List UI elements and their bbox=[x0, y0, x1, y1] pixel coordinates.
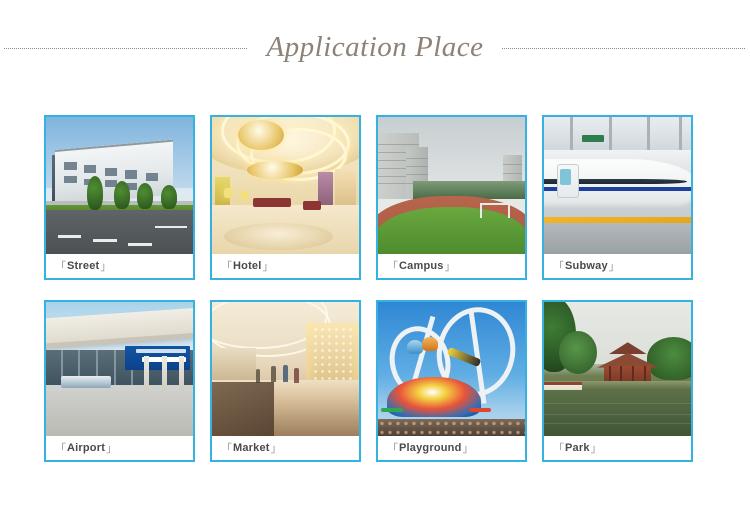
caption-playground: 「 Playground 」 bbox=[378, 436, 525, 460]
photo-street bbox=[46, 117, 193, 254]
application-place-page: Application Place bbox=[0, 0, 750, 521]
bracket-open-icon: 「 bbox=[552, 258, 565, 274]
photo-subway bbox=[544, 117, 691, 254]
entrance-pillar bbox=[144, 356, 149, 391]
window bbox=[84, 165, 96, 173]
goal-post bbox=[480, 203, 510, 218]
bracket-close-icon: 」 bbox=[590, 440, 603, 456]
canopy-beam bbox=[647, 117, 650, 153]
card-hotel[interactable]: 「 Hotel 」 bbox=[210, 115, 361, 280]
page-title: Application Place bbox=[266, 31, 483, 63]
road-marking bbox=[155, 226, 187, 228]
card-street[interactable]: 「 Street 」 bbox=[44, 115, 195, 280]
bracket-open-icon: 「 bbox=[386, 440, 399, 456]
caption-label: Hotel bbox=[233, 260, 262, 272]
station-canopy bbox=[544, 117, 691, 153]
bracket-open-icon: 「 bbox=[54, 258, 67, 274]
platform bbox=[544, 218, 691, 254]
card-market[interactable]: 「 Market 」 bbox=[210, 300, 361, 462]
bracket-close-icon: 」 bbox=[444, 258, 457, 274]
grid-row-1: 「 Street 」 bbox=[44, 115, 708, 280]
ride-arm bbox=[381, 408, 403, 412]
bracket-open-icon: 「 bbox=[220, 440, 233, 456]
caption-airport: 「 Airport 」 bbox=[46, 436, 193, 460]
canopy-beam bbox=[679, 117, 682, 153]
train-door-glass bbox=[560, 169, 571, 185]
window bbox=[64, 162, 77, 170]
divider-left bbox=[4, 48, 248, 49]
window bbox=[64, 176, 77, 183]
caption-label: Market bbox=[233, 442, 270, 454]
photo-campus bbox=[378, 117, 525, 254]
sofa bbox=[253, 198, 291, 207]
bracket-open-icon: 「 bbox=[220, 258, 233, 274]
tree bbox=[137, 183, 153, 209]
bracket-close-icon: 」 bbox=[462, 440, 475, 456]
road-marking bbox=[128, 243, 152, 246]
card-park[interactable]: 「 Park 」 bbox=[542, 300, 693, 462]
entrance-pillar bbox=[162, 356, 167, 391]
floor-dark-inlay bbox=[212, 382, 274, 436]
ferris-car bbox=[422, 337, 438, 351]
canopy-beam bbox=[570, 117, 573, 153]
caption-label: Park bbox=[565, 442, 590, 454]
bracket-close-icon: 」 bbox=[270, 440, 283, 456]
shopper bbox=[294, 368, 299, 383]
entrance-pillar bbox=[179, 356, 184, 391]
photo-airport bbox=[46, 302, 193, 436]
caption-park: 「 Park 」 bbox=[544, 436, 691, 460]
caption-label: Subway bbox=[565, 260, 608, 272]
carpet bbox=[224, 223, 333, 250]
application-place-grid: 「 Street 」 bbox=[44, 115, 708, 462]
bracket-close-icon: 」 bbox=[105, 440, 118, 456]
section-header: Application Place bbox=[0, 30, 750, 64]
bracket-open-icon: 「 bbox=[552, 440, 565, 456]
departures-sign-arabic-text bbox=[136, 349, 186, 353]
tree-middle bbox=[559, 331, 597, 374]
photo-playground bbox=[378, 302, 525, 436]
tree-right bbox=[647, 337, 691, 380]
crowd-texture bbox=[378, 419, 525, 436]
caption-market: 「 Market 」 bbox=[212, 436, 359, 460]
window bbox=[105, 168, 117, 176]
chandelier bbox=[247, 161, 303, 179]
grid-row-2: 「 Airport 」 bbox=[44, 300, 708, 462]
platform-safety-line bbox=[544, 217, 691, 223]
shopper bbox=[283, 365, 288, 382]
bracket-open-icon: 「 bbox=[54, 440, 67, 456]
bracket-close-icon: 」 bbox=[608, 258, 621, 274]
caption-label: Airport bbox=[67, 442, 105, 454]
road bbox=[46, 210, 193, 254]
divider-right bbox=[502, 48, 746, 49]
caption-hotel: 「 Hotel 」 bbox=[212, 254, 359, 278]
canopy-beam bbox=[609, 117, 612, 153]
caption-label: Playground bbox=[399, 442, 462, 454]
shuttle-bus bbox=[61, 376, 111, 388]
apron-ground bbox=[46, 390, 193, 436]
caption-label: Street bbox=[67, 260, 99, 272]
tree bbox=[87, 176, 103, 210]
window bbox=[146, 173, 158, 181]
photo-park bbox=[544, 302, 691, 436]
bracket-open-icon: 「 bbox=[386, 258, 399, 274]
lamp bbox=[241, 191, 248, 200]
tree bbox=[114, 181, 130, 209]
platform-sign bbox=[582, 135, 604, 142]
caption-campus: 「 Campus 」 bbox=[378, 254, 525, 278]
card-subway[interactable]: 「 Subway 」 bbox=[542, 115, 693, 280]
photo-hotel bbox=[212, 117, 359, 254]
card-airport[interactable]: 「 Airport 」 bbox=[44, 300, 195, 462]
road-marking bbox=[58, 235, 82, 238]
caption-street: 「 Street 」 bbox=[46, 254, 193, 278]
sofa bbox=[303, 201, 321, 210]
window bbox=[125, 170, 137, 178]
caption-subway: 「 Subway 」 bbox=[544, 254, 691, 278]
ferris-car bbox=[407, 340, 423, 354]
road-marking bbox=[93, 239, 117, 242]
bracket-close-icon: 」 bbox=[99, 258, 112, 274]
shopper bbox=[271, 366, 276, 382]
ride-arm bbox=[469, 408, 491, 412]
lamp bbox=[224, 188, 232, 198]
photo-market bbox=[212, 302, 359, 436]
card-campus[interactable]: 「 Campus 」 bbox=[376, 115, 527, 280]
tree bbox=[161, 185, 177, 209]
caption-label: Campus bbox=[399, 260, 444, 272]
shopper bbox=[256, 369, 260, 383]
chandelier bbox=[238, 120, 284, 150]
card-playground[interactable]: 「 Playground 」 bbox=[376, 300, 527, 462]
bracket-close-icon: 」 bbox=[262, 258, 275, 274]
